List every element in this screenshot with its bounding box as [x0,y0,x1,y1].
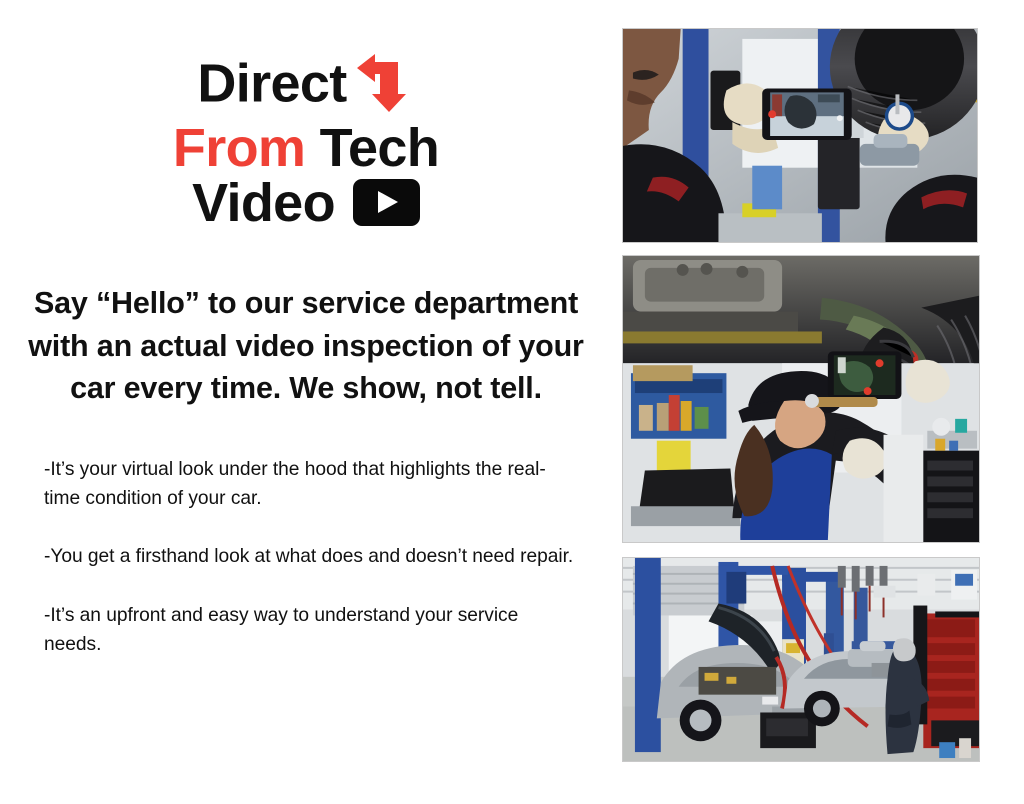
left-content-column: Direct From Tech Video Say “Hello” to ou… [0,0,612,804]
logo-word-direct: Direct [197,53,346,113]
photo-stack [622,0,982,804]
logo-word-tech-label: Tech [320,118,439,178]
logo-line-video: Video [0,178,612,230]
bullet-item: -You get a firsthand look at what does a… [44,542,574,571]
elbow-arrow-icon [353,50,415,116]
bullet-item: -It’s your virtual look under the hood t… [44,455,574,513]
benefit-bullet-list: -It’s your virtual look under the hood t… [44,455,574,659]
photo-undercar-filming [622,255,980,543]
logo-word-from: From [173,118,305,178]
photo-service-bay [622,557,980,762]
logo-word-tech [305,118,319,178]
headline-text: Say “Hello” to our service department wi… [14,282,598,410]
logo-line-from-tech: From Tech [0,123,612,175]
photo-tire-inspection [622,28,978,243]
logo-word-video: Video [192,173,335,233]
play-badge-icon[interactable] [353,179,420,226]
logo-lockup: Direct From Tech Video [0,54,612,230]
logo-line-direct: Direct [0,54,612,120]
bullet-item: -It’s an upfront and easy way to underst… [44,601,574,659]
